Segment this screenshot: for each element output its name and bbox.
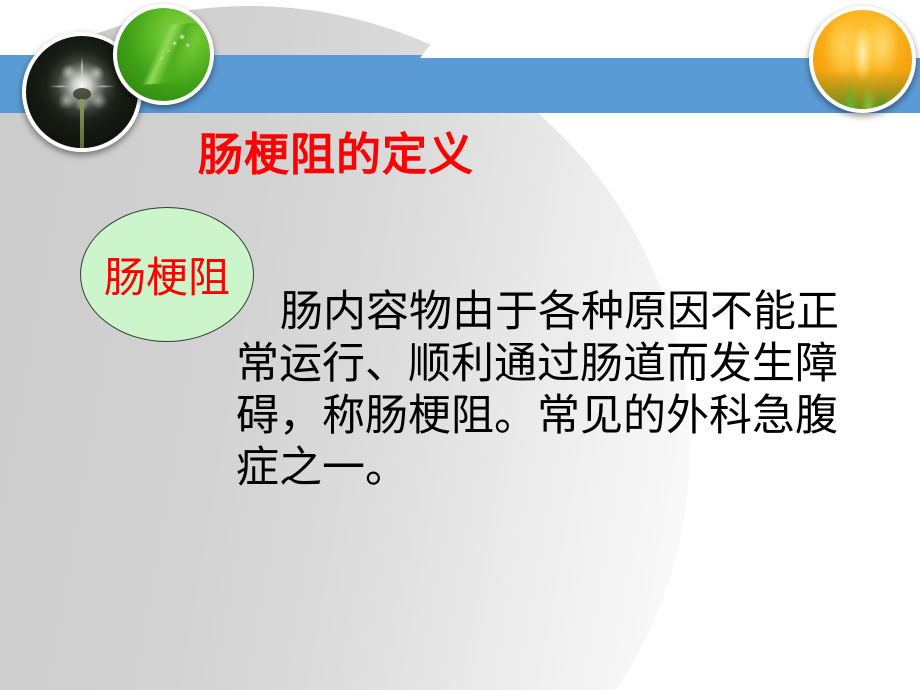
slide-title: 肠梗阻的定义 <box>198 131 474 178</box>
dandelion-core-icon <box>73 88 91 100</box>
tulip-photo-bubble <box>809 6 916 113</box>
term-callout-label: 肠梗阻 <box>104 244 230 305</box>
term-callout-oval: 肠梗阻 <box>80 207 254 342</box>
presentation-slide: 肠梗阻的定义 肠梗阻 肠内容物由于各种原因不能正常运行、顺利通过肠道而发生障碍，… <box>0 0 920 690</box>
water-droplets-icon <box>117 8 210 101</box>
green-leaf-photo-bubble <box>113 4 214 105</box>
definition-body-text: 肠内容物由于各种原因不能正常运行、顺利通过肠道而发生障碍，称肠梗阻。常见的外科急… <box>236 286 856 494</box>
dandelion-stem-icon <box>80 99 84 151</box>
tulip-leaves-icon <box>813 63 912 109</box>
